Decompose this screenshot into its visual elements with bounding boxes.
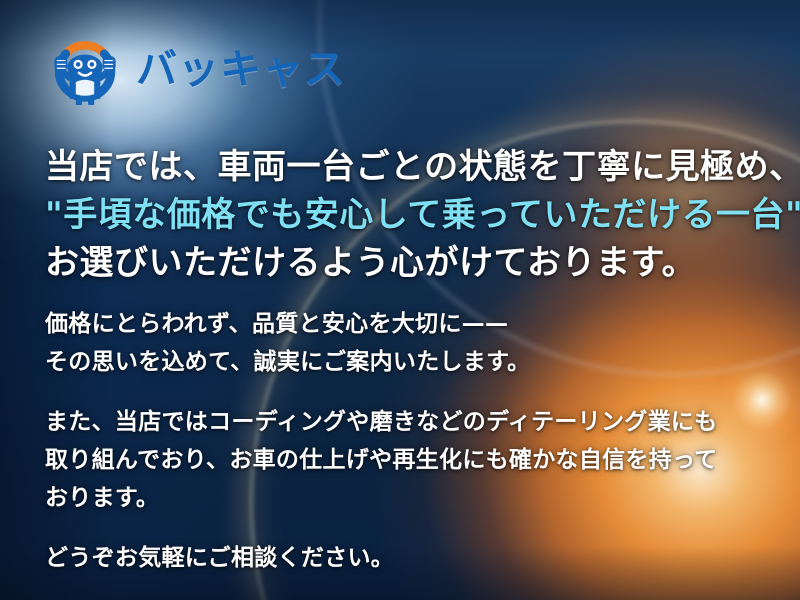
headline-quoted-phrase: "手頃な価格でも安心して乗っていただける一台" [45,195,800,235]
paragraph-3-line-1: どうぞお気軽にご相談ください。 [45,539,775,577]
paragraph-2-line-3: おります。 [45,479,775,517]
paragraph-2-line-2: 取り組んでおり、お車の仕上げや再生化にも確かな自信を持って [45,441,775,479]
paragraph-3: どうぞお気軽にご相談ください。 [45,539,775,577]
paragraph-1-line-2: その思いを込めて、誠実にご案内いたします。 [45,343,775,381]
steering-wheel-mascot-icon [46,33,124,105]
headline-line-1: 当店では、車両一台ごとの状態を丁寧に見極め、 [45,143,775,191]
body-copy: 価格にとらわれず、品質と安心を大切に—— その思いを込めて、誠実にご案内いたしま… [45,305,775,577]
brand-name: バッキャス [136,49,346,90]
promo-banner: バッキャス 当店では、車両一台ごとの状態を丁寧に見極め、 "手頃な価格でも安心し… [0,0,800,600]
paragraph-2-line-1: また、当店ではコーディングや磨きなどのディテーリング業にも [45,403,775,441]
paragraph-2: また、当店ではコーディングや磨きなどのディテーリング業にも 取り組んでおり、お車… [45,403,775,517]
paragraph-1-line-1: 価格にとらわれず、品質と安心を大切に—— [45,305,775,343]
headline-line-3: お選びいただけるよう心がけております。 [45,239,775,287]
headline: 当店では、車両一台ごとの状態を丁寧に見極め、 "手頃な価格でも安心して乗っていた… [45,143,775,287]
paragraph-1: 価格にとらわれず、品質と安心を大切に—— その思いを込めて、誠実にご案内いたしま… [45,305,775,381]
brand-logo[interactable]: バッキャス [46,33,346,105]
headline-line-2: "手頃な価格でも安心して乗っていただける一台"を [45,191,775,239]
